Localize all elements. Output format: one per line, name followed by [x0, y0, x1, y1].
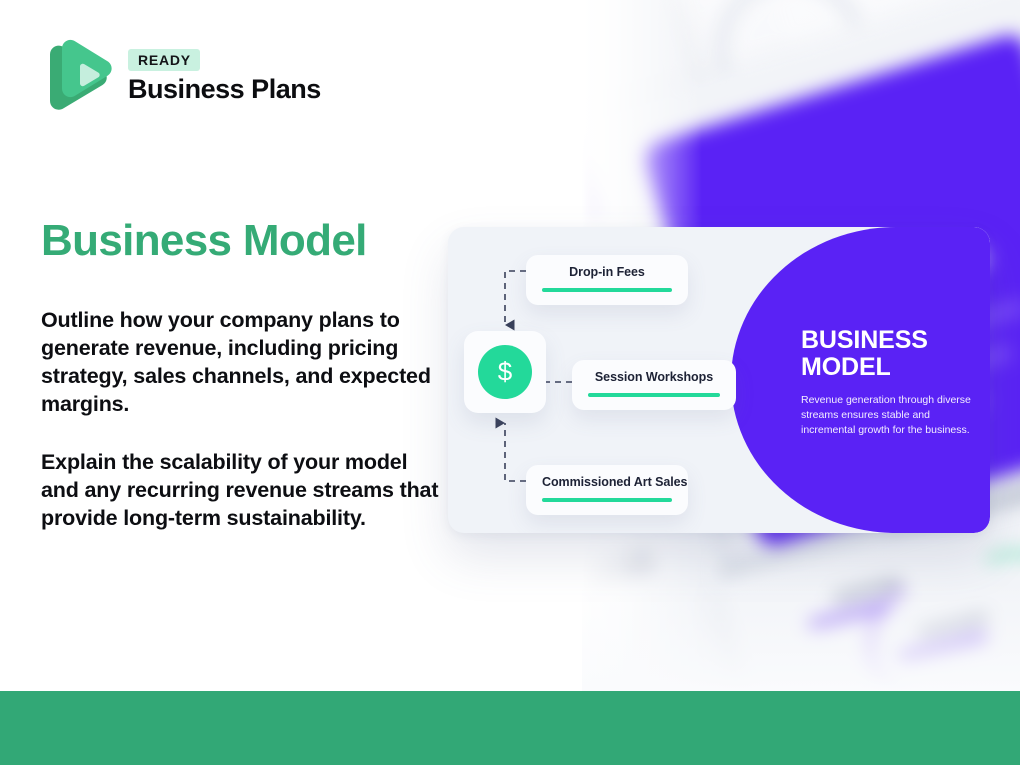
revenue-stream-label: Drop-in Fees: [542, 266, 672, 279]
revenue-stream-node[interactable]: Commissioned Art Sales: [526, 465, 688, 515]
background-bottom-fade: [582, 581, 1020, 691]
revenue-stream-label: Session Workshops: [588, 371, 720, 384]
purple-panel-copy: BUSINESS MODEL Revenue generation throug…: [801, 327, 987, 439]
revenue-stream-bar: [542, 498, 672, 502]
revenue-stream-label: Commissioned Art Sales: [542, 476, 672, 489]
footer-band: [0, 691, 1020, 765]
play-triangle-logo-icon: [42, 38, 114, 116]
purple-panel-description: Revenue generation through diverse strea…: [801, 393, 987, 439]
body-paragraph-1: Outline how your company plans to genera…: [41, 306, 441, 419]
body-paragraph-2: Explain the scalability of your model an…: [41, 448, 441, 532]
svg-text:$: $: [498, 357, 513, 387]
revenue-center-node[interactable]: $: [464, 331, 546, 413]
revenue-stream-node[interactable]: Drop-in Fees: [526, 255, 688, 305]
body-copy: Outline how your company plans to genera…: [41, 306, 441, 532]
revenue-stream-bar: [588, 393, 720, 397]
logo-text-block: READY Business Plans: [128, 49, 321, 105]
ready-badge: READY: [128, 49, 200, 71]
revenue-stream-bar: [542, 288, 672, 292]
logo-lockup: READY Business Plans: [42, 38, 321, 116]
page-title: Business Model: [41, 218, 367, 265]
dollar-sign-icon: $: [478, 345, 532, 399]
purple-panel-title: BUSINESS MODEL: [801, 327, 987, 381]
slide-canvas: READY Business Plans Business Model Outl…: [0, 0, 1020, 765]
brand-name: Business Plans: [128, 74, 321, 105]
revenue-stream-node[interactable]: Session Workshops: [572, 360, 736, 410]
business-model-diagram-card: $ Drop-in Fees Session Workshops Commiss…: [448, 227, 990, 533]
